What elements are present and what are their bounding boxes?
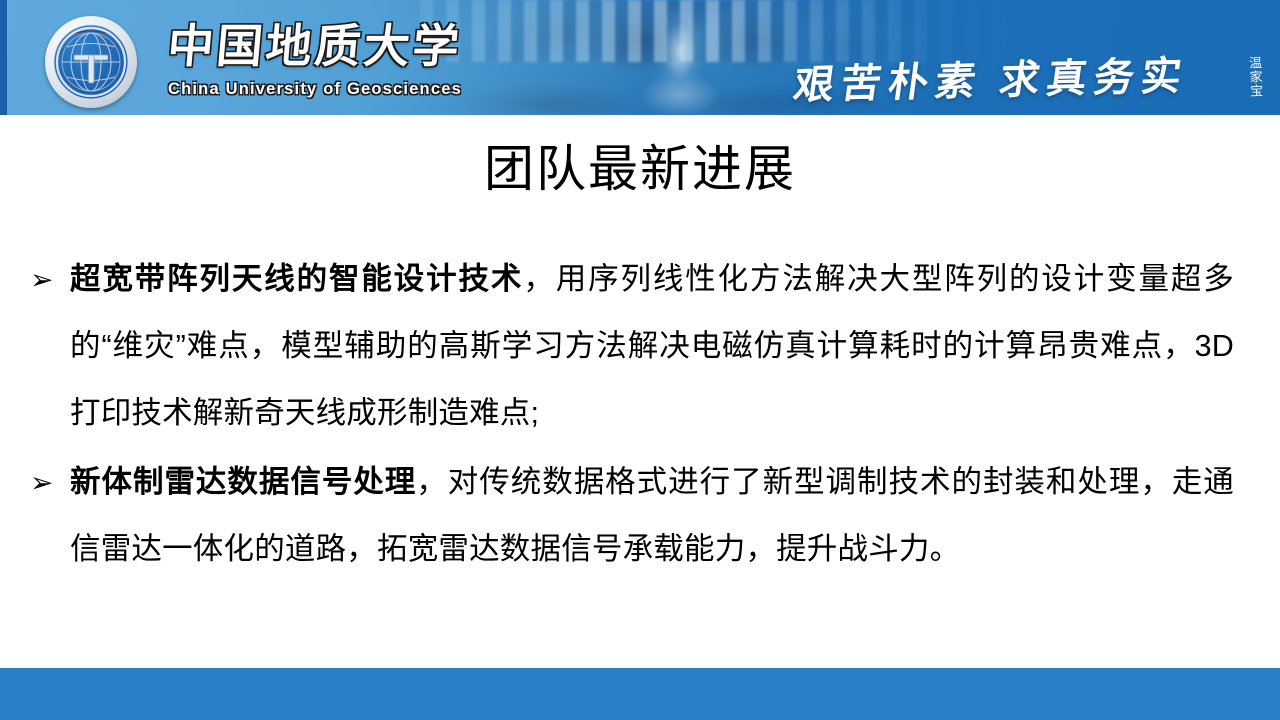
university-name: 中国地质大学 China University of Geosciences — [168, 10, 498, 82]
bullet-arrow-icon: ➢ — [30, 246, 54, 313]
bullet-bold-lead: 超宽带阵列天线的智能设计技术 — [70, 262, 523, 296]
slide-body: ➢ 超宽带阵列天线的智能设计技术，用序列线性化方法解决大型阵列的设计变量超多的“… — [0, 246, 1280, 583]
university-motto: 艰苦朴素 求真务实 — [790, 43, 1192, 111]
university-name-en: China University of Geosciences — [168, 80, 498, 99]
bullet-arrow-icon: ➢ — [30, 449, 54, 516]
bullet-item: ➢ 超宽带阵列天线的智能设计技术，用序列线性化方法解决大型阵列的设计变量超多的“… — [0, 246, 1280, 447]
slide-footer-bar — [0, 668, 1280, 720]
slide-title: 团队最新进展 — [0, 144, 1280, 194]
university-seal-icon — [45, 16, 137, 108]
header-left-edge-stripe — [0, 0, 7, 115]
motto-signature: 温家宝 — [1248, 56, 1263, 98]
slide-header-banner: 中国地质大学 China University of Geosciences 艰… — [0, 0, 1280, 115]
university-name-cn: 中国地质大学 — [165, 10, 501, 76]
bullet-bold-lead: 新体制雷达数据信号处理 — [70, 465, 416, 499]
bullet-item: ➢ 新体制雷达数据信号处理，对传统数据格式进行了新型调制技术的封装和处理，走通信… — [0, 449, 1280, 583]
